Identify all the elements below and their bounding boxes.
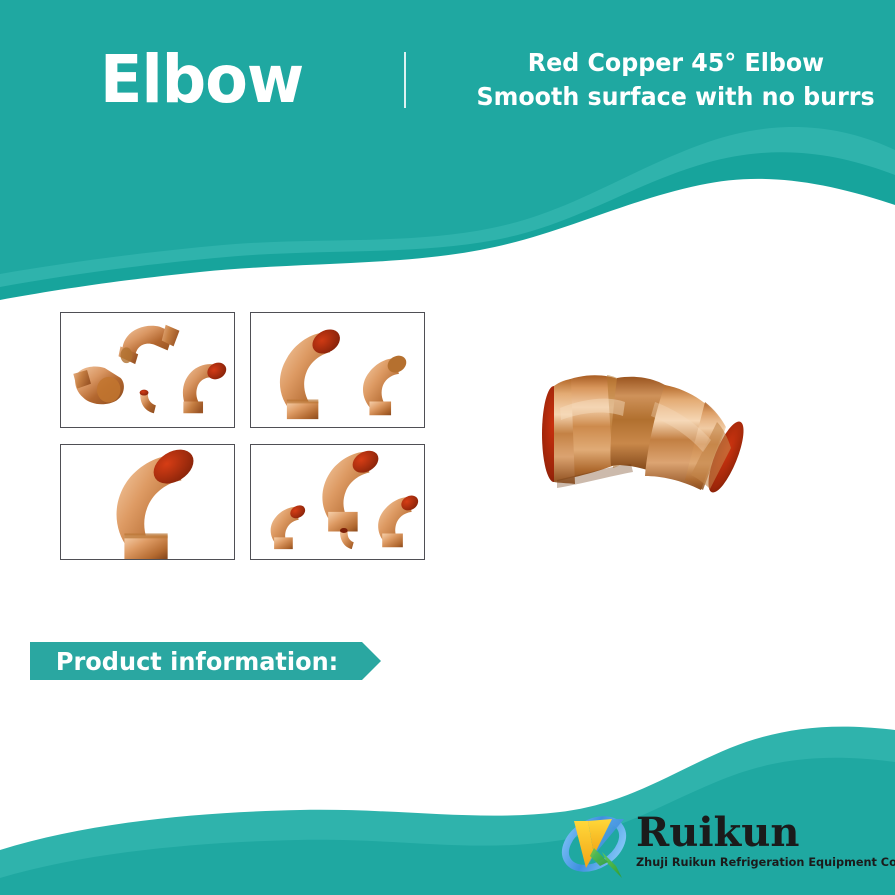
copper-fittings-photo-1	[61, 313, 234, 427]
company-full-name: Zhuji Ruikun Refrigeration Equipment Co.…	[636, 856, 895, 870]
header-section: Elbow Red Copper 45° Elbow Smooth surfac…	[0, 0, 895, 300]
brand-text-block: Ruikun Zhuji Ruikun Refrigeration Equipm…	[636, 808, 895, 870]
gallery-thumbnail-4[interactable]	[250, 444, 425, 560]
page-title: Elbow	[100, 47, 303, 113]
ruikun-logo-icon	[556, 808, 632, 880]
product-gallery-grid	[60, 312, 425, 560]
header-text-block: Elbow Red Copper 45° Elbow Smooth surfac…	[0, 0, 895, 160]
product-information-banner-shape: Product information:	[30, 642, 362, 680]
gallery-thumbnail-1[interactable]	[60, 312, 235, 428]
product-marketing-banner: Elbow Red Copper 45° Elbow Smooth surfac…	[0, 0, 895, 895]
hero-product-image	[505, 330, 795, 530]
title-divider	[404, 52, 406, 108]
copper-fittings-photo-2	[251, 313, 424, 427]
company-brand-block: Ruikun Zhuji Ruikun Refrigeration Equipm…	[556, 808, 886, 886]
product-information-banner: Product information:	[30, 642, 362, 680]
copper-fittings-photo-4	[251, 445, 424, 559]
header-subtitle-line-2: Smooth surface with no burrs	[477, 80, 875, 114]
product-information-label: Product information:	[56, 649, 338, 674]
header-subtitle-block: Red Copper 45° Elbow Smooth surface with…	[466, 46, 885, 114]
header-subtitle-line-1: Red Copper 45° Elbow	[528, 46, 824, 80]
gallery-thumbnail-3[interactable]	[60, 444, 235, 560]
gallery-thumbnail-2[interactable]	[250, 312, 425, 428]
ruikun-logo-mark	[556, 808, 632, 880]
company-name: Ruikun	[636, 812, 895, 854]
copper-45-elbow-hero-photo	[505, 330, 795, 530]
copper-fittings-photo-3	[61, 445, 234, 559]
